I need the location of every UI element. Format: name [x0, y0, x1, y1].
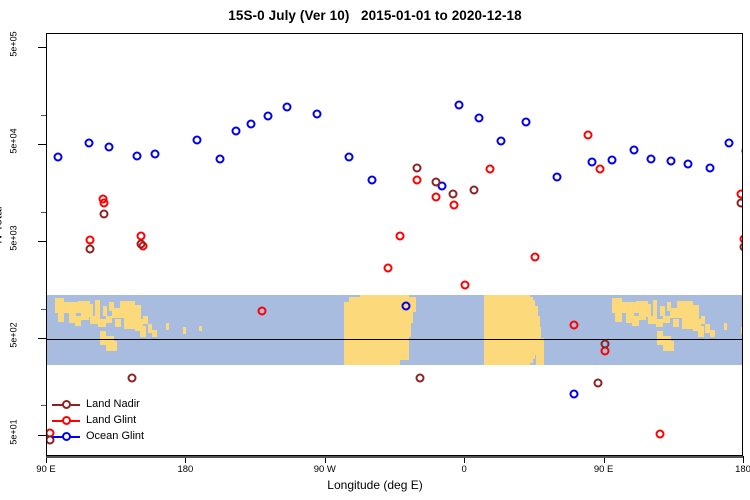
y-tick-label: 5e+01 — [0, 427, 37, 437]
data-point-land-nadir — [128, 374, 137, 383]
x-axis-title: Longitude (deg E) — [0, 478, 750, 492]
data-point-ocean-glint — [402, 301, 411, 310]
legend-label: Land Glint — [86, 414, 136, 426]
legend-label: Ocean Glint — [86, 430, 144, 442]
data-point-land-nadir — [137, 240, 146, 249]
map-landmass — [183, 327, 186, 334]
legend-marker-icon — [52, 398, 80, 410]
legend-item-ocean-glint[interactable]: Ocean Glint — [52, 428, 144, 444]
y-tick-label: 5e+04 — [0, 136, 37, 146]
map-landmass — [103, 306, 108, 316]
data-point-ocean-glint — [216, 154, 225, 163]
data-point-land-nadir — [100, 209, 109, 218]
data-point-land-glint — [396, 232, 405, 241]
data-point-ocean-glint — [630, 146, 639, 155]
chart-figure: 15S-0 July (Ver 10) 2015-01-01 to 2020-1… — [0, 0, 750, 500]
map-landmass — [98, 319, 106, 327]
y-tick-label: 5e+03 — [0, 233, 37, 243]
map-landmass — [152, 330, 157, 337]
plot-area[interactable] — [46, 33, 743, 456]
data-point-ocean-glint — [705, 163, 714, 172]
y-tick-major — [38, 241, 46, 242]
data-point-land-glint — [583, 131, 592, 140]
data-point-land-glint — [595, 165, 604, 174]
data-point-ocean-glint — [724, 139, 733, 148]
x-axis-baseline — [46, 456, 743, 458]
map-landmass — [698, 326, 704, 337]
y-tick-major — [38, 338, 46, 339]
data-point-land-nadir — [413, 163, 422, 172]
legend-label: Land Nadir — [86, 398, 140, 410]
map-landmass — [143, 316, 148, 324]
data-point-land-nadir — [740, 243, 744, 252]
map-landmass — [58, 313, 64, 321]
data-point-ocean-glint — [104, 142, 113, 151]
data-point-land-nadir — [448, 190, 457, 199]
data-point-land-glint — [736, 190, 743, 199]
data-point-land-nadir — [600, 340, 609, 349]
y-tick-label: 5e+05 — [0, 39, 37, 49]
data-point-ocean-glint — [193, 136, 202, 145]
legend-item-land-glint[interactable]: Land Glint — [52, 412, 144, 428]
data-point-land-glint — [485, 165, 494, 174]
x-tick-label: 180 — [177, 464, 193, 475]
data-point-land-nadir — [736, 199, 743, 208]
data-point-land-nadir — [86, 245, 95, 254]
y-tick-major — [38, 144, 46, 145]
data-point-ocean-glint — [84, 138, 93, 147]
legend-marker-icon — [52, 430, 80, 442]
data-point-land-nadir — [594, 378, 603, 387]
map-landmass — [668, 341, 674, 351]
map-landmass — [724, 323, 727, 330]
data-point-land-glint — [450, 201, 459, 210]
data-point-land-glint — [100, 199, 109, 208]
map-landmass — [660, 306, 665, 316]
map-landmass — [701, 316, 706, 324]
map-landmass — [673, 319, 679, 327]
data-point-ocean-glint — [247, 119, 256, 128]
y-tick-major — [38, 435, 46, 436]
data-point-ocean-glint — [741, 147, 743, 156]
legend: Land NadirLand GlintOcean Glint — [52, 396, 144, 444]
map-landmass — [615, 313, 621, 321]
data-point-land-glint — [530, 252, 539, 261]
reference-line-5e02 — [47, 339, 742, 340]
data-point-ocean-glint — [684, 159, 693, 168]
x-tick-major — [743, 456, 744, 463]
legend-item-land-nadir[interactable]: Land Nadir — [52, 396, 144, 412]
map-landmass — [55, 298, 64, 313]
y-tick-major — [38, 47, 46, 48]
map-landmass — [540, 338, 545, 364]
map-landmass — [111, 341, 117, 351]
data-point-ocean-glint — [569, 389, 578, 398]
y-tick-label: 5e+02 — [0, 330, 37, 340]
legend-marker-icon — [52, 414, 80, 426]
data-point-land-glint — [461, 280, 470, 289]
data-point-ocean-glint — [552, 172, 561, 181]
data-point-ocean-glint — [151, 150, 160, 159]
data-point-ocean-glint — [312, 109, 321, 118]
data-point-ocean-glint — [345, 152, 354, 161]
data-point-ocean-glint — [588, 157, 597, 166]
data-point-land-nadir — [416, 374, 425, 383]
data-point-land-glint — [86, 236, 95, 245]
data-point-land-glint — [383, 263, 392, 272]
data-point-ocean-glint — [132, 151, 141, 160]
data-point-land-nadir — [470, 186, 479, 195]
map-landmass — [741, 327, 743, 334]
data-point-land-nadir — [431, 178, 440, 187]
data-point-ocean-glint — [475, 113, 484, 122]
data-point-ocean-glint — [667, 156, 676, 165]
x-tick-label: 90 E — [36, 464, 56, 475]
data-point-land-glint — [431, 193, 440, 202]
map-landmass — [612, 298, 621, 313]
data-point-ocean-glint — [521, 118, 530, 127]
x-tick-label: 180 — [735, 464, 750, 475]
map-landmass — [653, 300, 658, 318]
data-point-land-glint — [569, 320, 578, 329]
map-landmass — [710, 330, 715, 337]
x-tick-label: 90 W — [314, 464, 336, 475]
data-point-ocean-glint — [496, 136, 505, 145]
map-landmass — [140, 326, 146, 337]
map-landmass — [95, 300, 100, 318]
x-tick-label: 0 — [462, 464, 467, 475]
data-point-ocean-glint — [53, 152, 62, 161]
data-point-ocean-glint — [283, 102, 292, 111]
data-point-ocean-glint — [647, 154, 656, 163]
world-map-band — [47, 295, 742, 364]
map-landmass — [656, 319, 664, 327]
data-point-ocean-glint — [368, 175, 377, 184]
data-point-land-glint — [413, 175, 422, 184]
x-tick-label: 90 E — [594, 464, 614, 475]
data-point-land-glint — [258, 307, 267, 316]
data-point-ocean-glint — [455, 100, 464, 109]
data-point-ocean-glint — [231, 126, 240, 135]
map-landmass — [166, 323, 169, 330]
data-point-ocean-glint — [264, 111, 273, 120]
map-landmass — [115, 319, 121, 327]
data-point-ocean-glint — [608, 155, 617, 164]
map-landmass — [199, 326, 202, 332]
data-point-land-glint — [656, 429, 665, 438]
chart-title: 15S-0 July (Ver 10) 2015-01-01 to 2020-1… — [0, 8, 750, 23]
